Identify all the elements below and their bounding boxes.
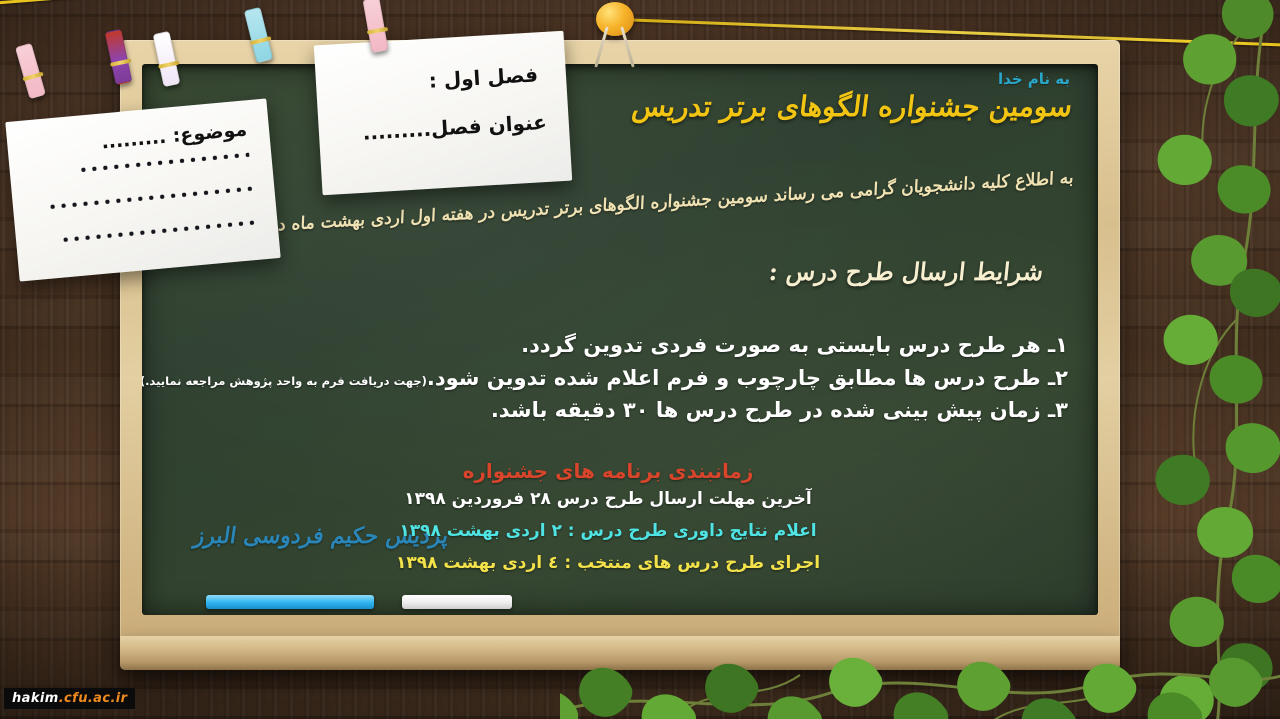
clothespin-icon xyxy=(15,43,46,100)
site-watermark: hakim.cfu.ac.ir xyxy=(4,688,135,709)
rule-item: ۳ـ زمان پیش بینی شده در طرح درس ها ۳۰ دق… xyxy=(148,394,1068,427)
dotted-writing-line xyxy=(60,220,256,243)
rule-main-text: ۳ـ زمان پیش بینی شده در طرح درس ها ۳۰ دق… xyxy=(491,398,1068,422)
subject-note-card: موضوع: ......... xyxy=(5,98,280,281)
festival-title: سومین جشنواره الگوهای برتر تدریس xyxy=(630,90,1074,123)
subject-label: موضوع: ......... xyxy=(100,118,248,153)
bismillah-text: به نام خدا xyxy=(998,70,1070,88)
dotted-writing-line xyxy=(47,186,253,210)
rule-main-text: ۲ـ طرح درس ها مطابق چارچوب و فرم اعلام ش… xyxy=(427,366,1068,390)
watermark-name: hakim xyxy=(12,691,59,706)
announcement-intro: به اطلاع کلیه دانشجویان گرامی می رساند س… xyxy=(145,168,1074,243)
schedule-block: زمانبندی برنامه های جشنواره آخرین مهلت ا… xyxy=(148,459,1068,585)
rule-main-text: ۱ـ هر طرح درس بایستی به صورت فردی تدوین … xyxy=(521,333,1068,357)
rules-list: ۱ـ هر طرح درس بایستی به صورت فردی تدوین … xyxy=(148,329,1068,427)
conditions-heading: شرایط ارسال طرح درس : xyxy=(767,257,1044,286)
white-chalk xyxy=(402,595,512,609)
yellow-string-left xyxy=(0,0,688,5)
chapter-label: فصل اول : xyxy=(428,62,538,92)
chalkboard-surface: به نام خدا سومین جشنواره الگوهای برتر تد… xyxy=(142,64,1098,615)
chalkboard-frame: به نام خدا سومین جشنواره الگوهای برتر تد… xyxy=(120,40,1120,655)
schedule-line: آخرین مهلت ارسال طرح درس ۲۸ فروردین ۱۳۹۸ xyxy=(148,489,1068,509)
pin-pattern xyxy=(16,44,45,98)
rule-item: ۲ـ طرح درس ها مطابق چارچوب و فرم اعلام ش… xyxy=(148,362,1068,395)
schedule-line: اجرای طرح درس های منتخب : ٤ اردی بهشت ۱۳… xyxy=(148,553,1068,573)
rule-item: ۱ـ هر طرح درس بایستی به صورت فردی تدوین … xyxy=(148,329,1068,362)
dotted-writing-line xyxy=(78,152,250,173)
rule-sub-note: (جهت دریافت فرم به واحد پژوهش مراجعه نما… xyxy=(142,374,427,388)
schedule-heading: زمانبندی برنامه های جشنواره xyxy=(148,459,1068,483)
watermark-domain: .cfu.ac.ir xyxy=(59,691,128,706)
chapter-note-card: فصل اول : عنوان فصل......... xyxy=(314,31,572,196)
chapter-title-placeholder: عنوان فصل......... xyxy=(362,110,547,145)
yellow-bead-icon xyxy=(596,2,634,36)
campus-signature: پردیس حکیم فردوسی البرز xyxy=(192,523,450,549)
poster-scene: به نام خدا سومین جشنواره الگوهای برتر تد… xyxy=(0,0,1280,719)
chalk-ledge xyxy=(120,636,1120,670)
blue-chalk xyxy=(206,595,374,609)
